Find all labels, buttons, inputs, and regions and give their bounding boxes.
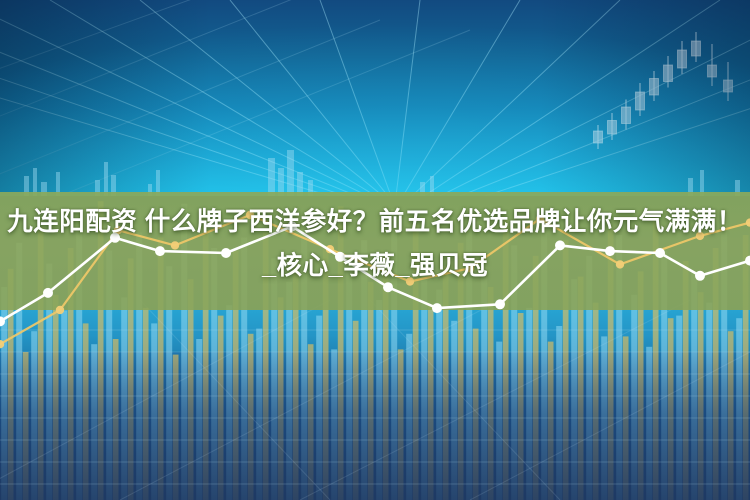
headline-line-1: 九连阳配资 什么牌子西洋参好？前五名优选品牌让你元气满满！ — [7, 208, 743, 236]
page-title: 九连阳配资 什么牌子西洋参好？前五名优选品牌让你元气满满！_核心_李薇_强贝冠 — [0, 200, 750, 288]
headline-line-2: _核心_李薇_强贝冠 — [262, 252, 488, 280]
banner-image: 九连阳配资 什么牌子西洋参好？前五名优选品牌让你元气满满！_核心_李薇_强贝冠 — [0, 0, 750, 500]
